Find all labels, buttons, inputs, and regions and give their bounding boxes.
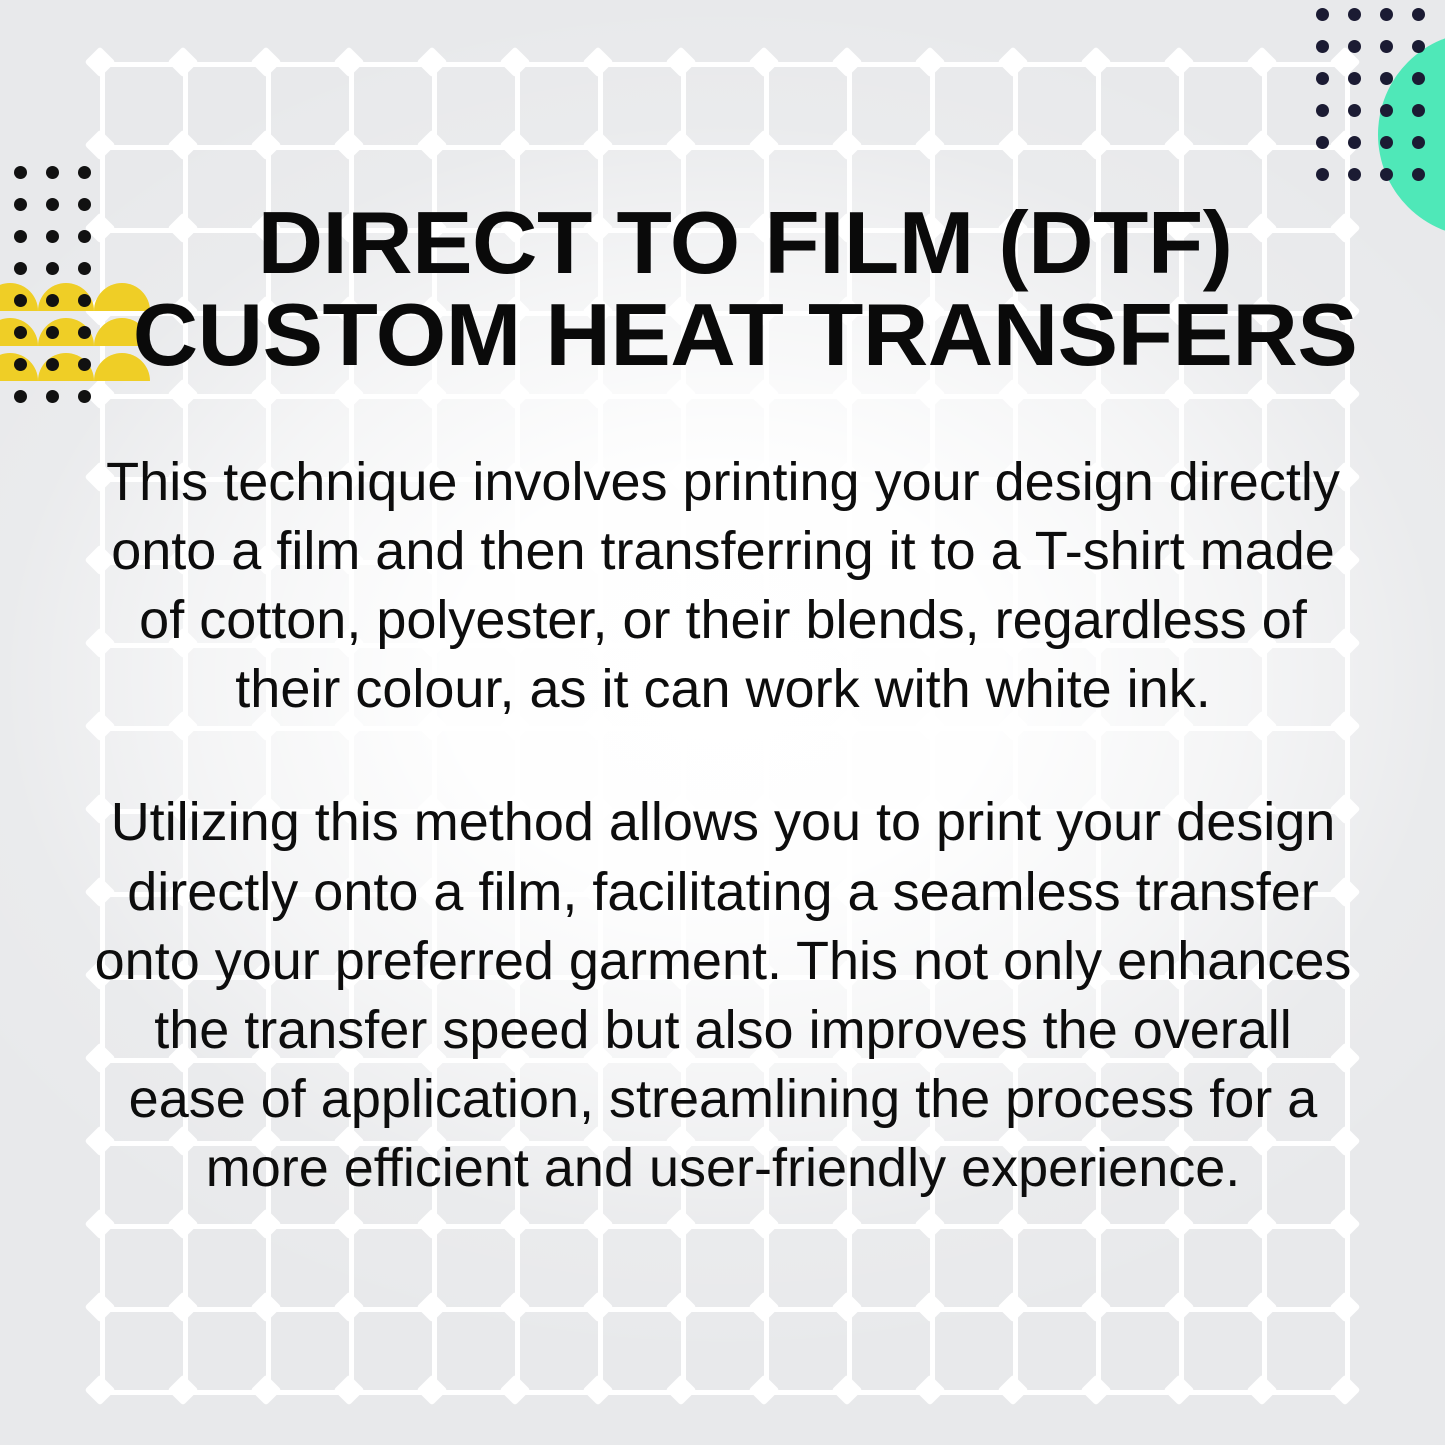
poster-canvas: DIRECT TO FILM (DTF) CUSTOM HEAT TRANSFE… [0,0,1445,1445]
page-title: DIRECT TO FILM (DTF) CUSTOM HEAT TRANSFE… [101,197,1389,382]
body-copy: This technique involves printing your de… [92,448,1354,1203]
title-line-1: DIRECT TO FILM (DTF) [101,197,1389,289]
title-line-2: CUSTOM HEAT TRANSFERS [101,289,1389,381]
body-paragraph-2: Utilizing this method allows you to prin… [92,788,1354,1203]
body-paragraph-1: This technique involves printing your de… [92,448,1354,724]
poster-content: DIRECT TO FILM (DTF) CUSTOM HEAT TRANSFE… [0,0,1445,1445]
